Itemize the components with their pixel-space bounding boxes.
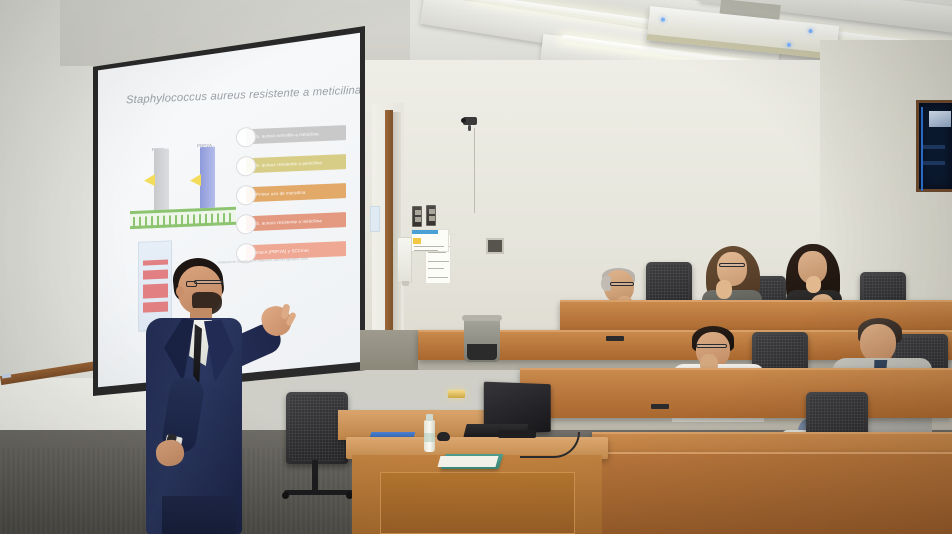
step-light bbox=[448, 390, 465, 398]
light-switch-plate[interactable] bbox=[426, 205, 436, 226]
desk-front-row-panel bbox=[596, 452, 952, 534]
diagram-arrow-icon bbox=[144, 174, 155, 186]
timeline-bar: Primer uso de meticilina bbox=[246, 183, 346, 202]
camera-cable bbox=[474, 128, 475, 213]
timeline-marker-circle bbox=[236, 156, 256, 177]
glasses-icon bbox=[194, 280, 223, 284]
diagram-bar-pbp2 bbox=[154, 149, 169, 212]
chair-base bbox=[284, 490, 354, 495]
glasses-icon bbox=[610, 282, 634, 286]
slide-timeline: S. aureus sensible a meticilina S. aureu… bbox=[236, 121, 348, 271]
wall-outlet-panel bbox=[486, 238, 504, 254]
chair-stem bbox=[312, 460, 318, 492]
notebook bbox=[441, 454, 504, 469]
door-jamb bbox=[385, 110, 393, 332]
glasses-icon bbox=[719, 263, 745, 267]
timeline-marker-circle bbox=[236, 214, 256, 235]
security-camera-icon bbox=[461, 115, 481, 131]
diagram-membrane bbox=[130, 207, 236, 229]
water-bottle bbox=[424, 420, 435, 452]
glasses-icon bbox=[696, 344, 727, 348]
wall-sign bbox=[370, 206, 380, 232]
timeline-marker-circle bbox=[236, 127, 256, 148]
diagram-arrow-icon bbox=[190, 174, 201, 186]
trash-bin bbox=[464, 318, 500, 362]
desk-mid-row bbox=[520, 368, 952, 418]
device-on-desk bbox=[651, 404, 669, 409]
presenter bbox=[140, 258, 290, 534]
diagram-bar-pbp2a bbox=[200, 147, 215, 210]
podium-panel bbox=[380, 472, 575, 534]
timeline-bar: S. aureus resistente a penicilina bbox=[246, 154, 346, 173]
slide-diagram: PBP2 PBP2A bbox=[128, 126, 238, 236]
slide-title: Staphylococcus aureus resistente a metic… bbox=[126, 85, 356, 107]
wall-notice bbox=[411, 229, 449, 252]
timeline-item: S. aureus resistente a penicilina bbox=[236, 150, 348, 180]
device-on-desk bbox=[606, 336, 624, 341]
lecture-hall-photo: Staphylococcus aureus resistente a metic… bbox=[0, 0, 952, 534]
head bbox=[860, 324, 896, 362]
mouse[interactable] bbox=[437, 432, 450, 441]
trousers bbox=[162, 496, 236, 534]
light-switch-plate[interactable] bbox=[412, 206, 422, 227]
door-panel[interactable] bbox=[393, 112, 401, 330]
sanitizer-dispenser[interactable] bbox=[397, 237, 412, 283]
timeline-bar: S. aureus resistente a meticilina bbox=[246, 212, 346, 231]
timeline-item: S. aureus resistente a meticilina bbox=[236, 208, 348, 238]
timeline-item: Primer uso de meticilina bbox=[236, 179, 348, 209]
timeline-bar: S. aureus sensible a meticilina bbox=[246, 125, 346, 144]
wall-information-display bbox=[916, 100, 952, 192]
timeline-marker-circle bbox=[236, 185, 256, 206]
timeline-item: S. aureus sensible a meticilina bbox=[236, 121, 348, 151]
